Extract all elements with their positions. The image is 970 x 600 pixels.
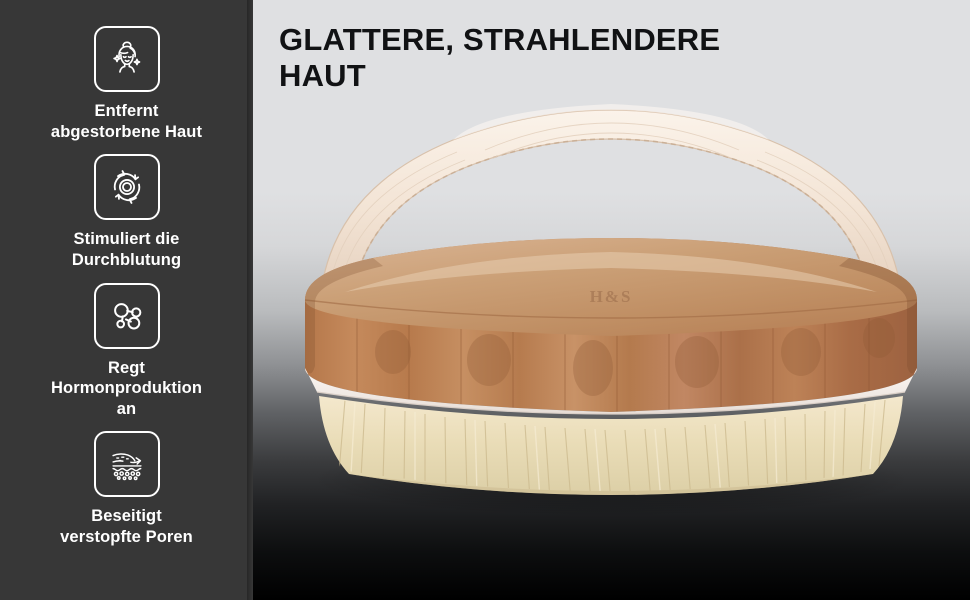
skin-pores-icon-box	[94, 431, 160, 497]
feature-item-entfernt-abgestorbene-haut: Entfernt abgestorbene Haut	[12, 26, 242, 142]
circulation-arrows-icon	[104, 164, 150, 210]
brand-engraving: H&S	[590, 287, 633, 306]
headline: GLATTERE, STRAHLENDERE HAUT	[279, 22, 899, 94]
molecule-hormone-icon-box	[94, 283, 160, 349]
feature-label: Beseitigt verstopfte Poren	[60, 506, 193, 547]
face-sparkle-icon	[104, 36, 150, 82]
product-panel: GLATTERE, STRAHLENDERE HAUT	[253, 0, 970, 600]
face-sparkle-icon-box	[94, 26, 160, 92]
feature-item-beseitigt-verstopfte-poren: Beseitigt verstopfte Poren	[12, 431, 242, 547]
circulation-arrows-icon-box	[94, 154, 160, 220]
product-marketing-image: Entfernt abgestorbene Haut	[0, 0, 970, 600]
feature-label: Stimuliert die Durchblutung	[72, 229, 181, 270]
feature-item-stimuliert-die-durchblutung: Stimuliert die Durchblutung	[12, 154, 242, 270]
feature-item-regt-hormonproduktion-an: Regt Hormonproduktion an	[12, 283, 242, 420]
feature-label: Regt Hormonproduktion an	[51, 358, 202, 420]
bamboo-body: H&S	[305, 238, 917, 418]
benefits-sidebar: Entfernt abgestorbene Haut	[0, 0, 253, 600]
feature-label: Entfernt abgestorbene Haut	[51, 101, 202, 142]
skin-pores-icon	[104, 441, 150, 487]
molecule-hormone-icon	[104, 293, 150, 339]
